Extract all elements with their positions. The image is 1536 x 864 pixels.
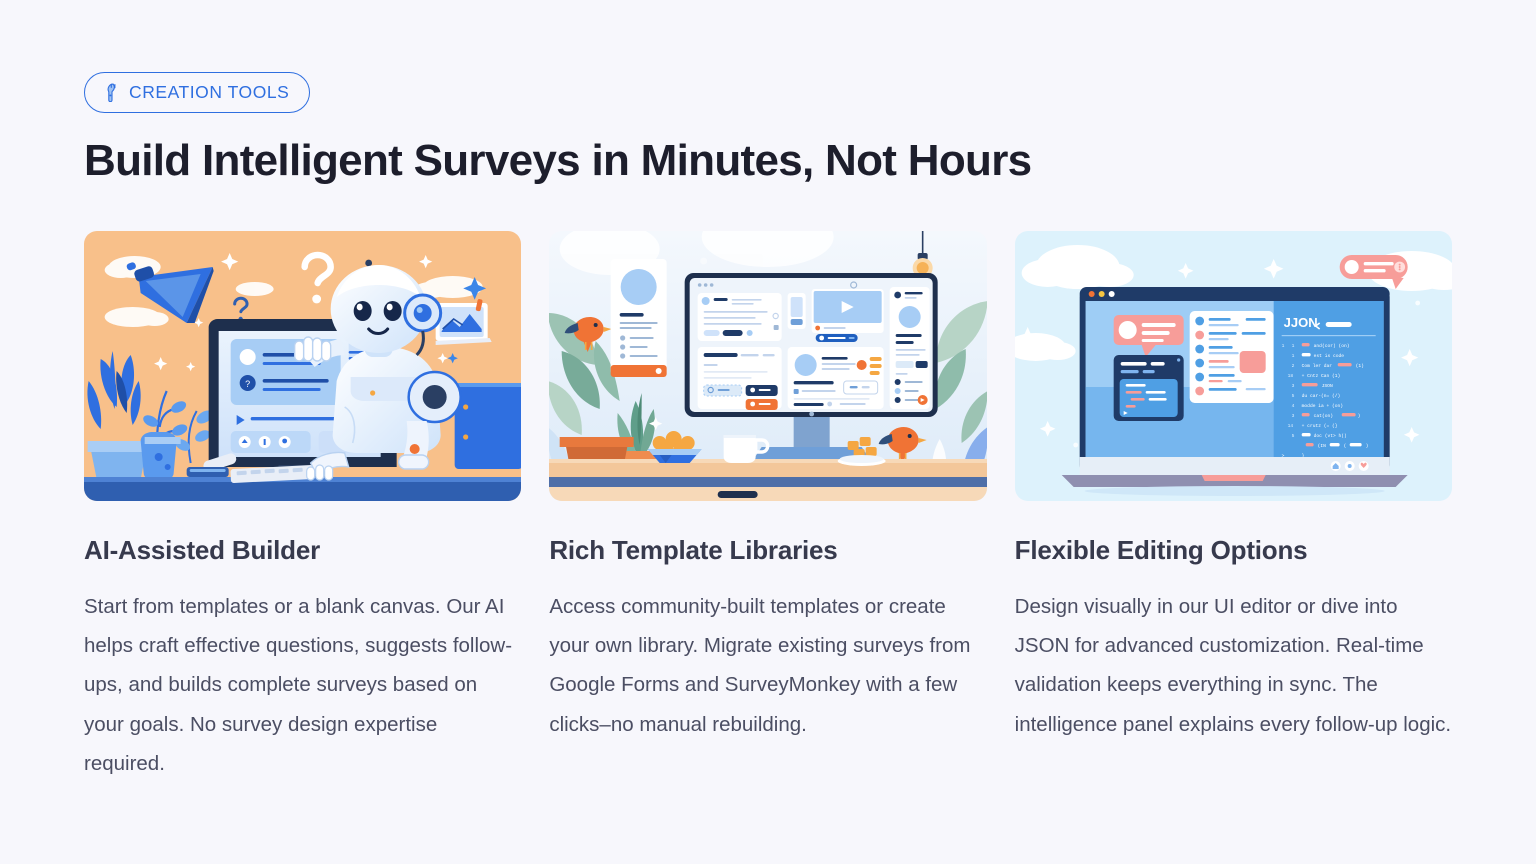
svg-text:): ) xyxy=(1365,443,1368,449)
svg-text:doc (vt> h(): doc (vt> h() xyxy=(1313,433,1346,439)
features-section: CREATION TOOLS Build Intelligent Surveys… xyxy=(0,0,1536,864)
section-headline: Build Intelligent Surveys in Minutes, No… xyxy=(84,137,1452,185)
svg-text:3: 3 xyxy=(1291,383,1294,389)
laptop-json-editor-illustration: JJON 11 1 2 18 3 xyxy=(1015,231,1452,501)
template-dashboard-desk-illustration xyxy=(549,231,986,501)
svg-text:14: 14 xyxy=(1287,423,1293,429)
svg-text:?: ? xyxy=(245,379,250,389)
section-badge-label: CREATION TOOLS xyxy=(129,84,289,102)
svg-text:): ) xyxy=(1357,413,1360,419)
robot-at-desk-illustration: ? xyxy=(84,231,521,501)
feature-card: Rich Template Libraries Access community… xyxy=(549,231,986,784)
svg-text:+ Cntz Can (1): + Cntz Can (1) xyxy=(1301,373,1340,379)
json-panel-label: JJON xyxy=(1283,315,1317,330)
svg-text:5: 5 xyxy=(1291,433,1294,439)
feature-card-title: Flexible Editing Options xyxy=(1015,535,1452,566)
svg-text:4: 4 xyxy=(1291,403,1294,409)
svg-text:5: 5 xyxy=(1291,393,1294,399)
feature-card-title: AI-Assisted Builder xyxy=(84,535,521,566)
feature-card-body: Start from templates or a blank canvas. … xyxy=(84,587,521,784)
feature-card-body: Access community-built templates or crea… xyxy=(549,587,986,744)
svg-text:(1): (1) xyxy=(1355,363,1363,369)
svg-text:cat(on): cat(on) xyxy=(1313,413,1332,419)
feature-card-title: Rich Template Libraries xyxy=(549,535,986,566)
svg-text:est is code: est is code xyxy=(1313,353,1344,359)
svg-text:1: 1 xyxy=(1291,353,1294,359)
svg-text:1: 1 xyxy=(1281,343,1284,349)
wrench-icon xyxy=(102,83,119,102)
svg-text:18: 18 xyxy=(1287,373,1293,379)
feature-card: JJON 11 1 2 18 3 xyxy=(1015,231,1452,784)
svg-text:JSON: JSON xyxy=(1321,383,1332,389)
svg-text:Com ler dar: Com ler dar xyxy=(1301,363,1332,369)
svg-text:modde ia + (on): modde ia + (on) xyxy=(1301,403,1342,409)
svg-text:du car-(n= (/): du car-(n= (/) xyxy=(1301,393,1340,399)
section-badge: CREATION TOOLS xyxy=(84,72,310,113)
feature-card-grid: ? xyxy=(84,231,1452,784)
svg-text:1: 1 xyxy=(1291,343,1294,349)
feature-card-body: Design visually in our UI editor or dive… xyxy=(1015,587,1452,744)
svg-text:3: 3 xyxy=(1291,413,1294,419)
svg-text:+ crutz (= (}: + crutz (= (} xyxy=(1301,423,1337,429)
svg-text:2: 2 xyxy=(1291,363,1294,369)
svg-text:(IN: (IN xyxy=(1317,443,1326,449)
feature-card: ? xyxy=(84,231,521,784)
svg-text:and(cor) (on): and(cor) (on) xyxy=(1313,343,1349,349)
svg-text:(: ( xyxy=(1343,443,1346,449)
